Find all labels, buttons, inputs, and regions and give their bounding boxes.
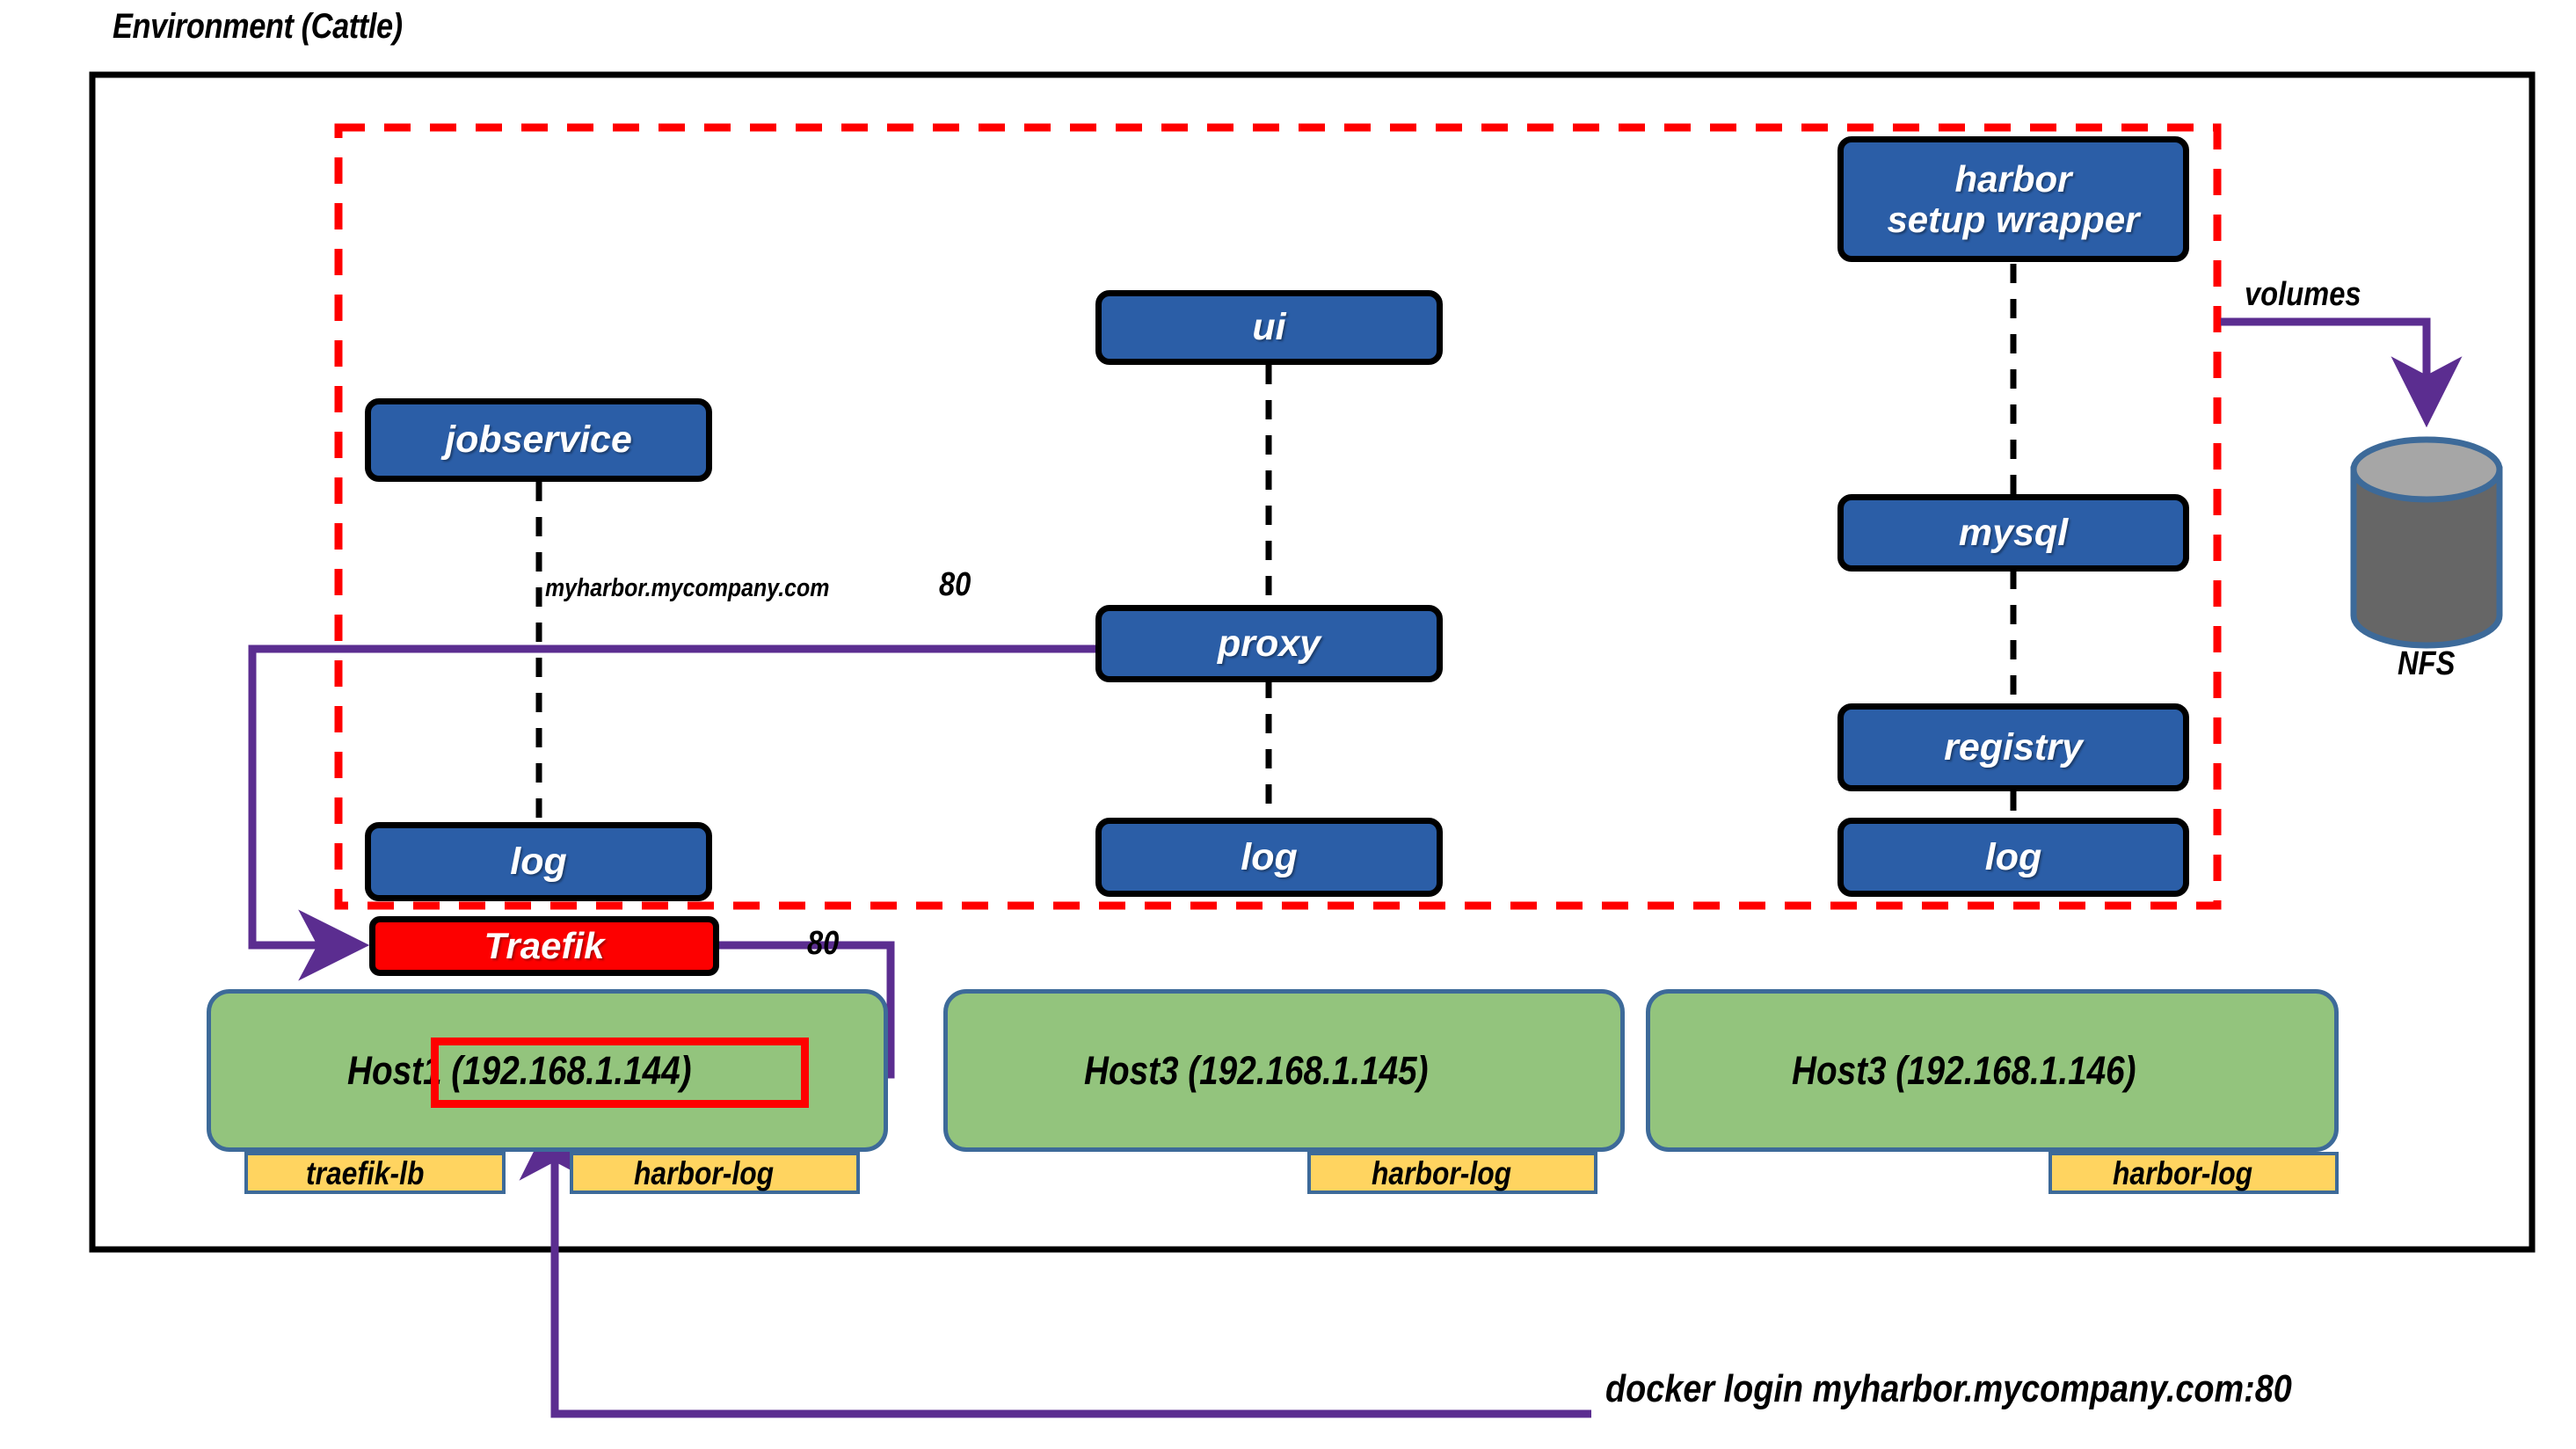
service-label-proxy: proxy — [1218, 623, 1321, 664]
service-label-registry-log: log — [1985, 837, 2041, 877]
page-title: Environment (Cattle) — [113, 9, 403, 44]
host1-chip-label-harbor-log: harbor-log — [634, 1157, 774, 1190]
service-label-registry: registry — [1944, 727, 2083, 768]
docker-login-command: docker login myharbor.mycompany.com:80 — [1605, 1370, 2292, 1409]
host-box-3[interactable]: Host3 (192.168.1.146) — [1646, 989, 2339, 1152]
traefik-port-label: 80 — [807, 927, 839, 960]
host2-chip-label-harbor-log: harbor-log — [1372, 1157, 1511, 1190]
proxy-port-label: 80 — [939, 568, 971, 601]
service-box-registry-log[interactable]: log — [1837, 818, 2189, 897]
volumes-label: volumes — [2245, 278, 2361, 311]
service-box-ui[interactable]: ui — [1095, 290, 1443, 365]
service-label-harbor-setup-wrapper: harborsetup wrapper — [1887, 159, 2139, 239]
host1-chip-traefik-lb[interactable]: traefik-lb — [244, 1152, 506, 1194]
service-label-jobservice: jobservice — [445, 419, 632, 460]
service-box-jobservice-log[interactable]: log — [365, 822, 712, 901]
host-label-3: Host3 (192.168.1.146) — [1792, 1051, 2136, 1090]
service-box-proxy[interactable]: proxy — [1095, 605, 1443, 682]
harbor-domain-label: myharbor.mycompany.com — [545, 576, 829, 601]
traefik-load-balancer-box[interactable]: Traefik — [369, 916, 719, 976]
host1-chip-harbor-log[interactable]: harbor-log — [570, 1152, 860, 1194]
traefik-label: Traefik — [484, 925, 605, 967]
volumes-arrow — [2221, 322, 2427, 413]
service-box-harbor-setup-wrapper[interactable]: harborsetup wrapper — [1837, 136, 2189, 262]
host3-chip-harbor-log[interactable]: harbor-log — [2048, 1152, 2339, 1194]
service-label-mysql: mysql — [1959, 513, 2068, 553]
nfs-cylinder — [2354, 440, 2500, 645]
host-label-2: Host3 (192.168.1.145) — [1084, 1051, 1429, 1090]
service-label-proxy-log: log — [1241, 837, 1297, 877]
service-box-jobservice[interactable]: jobservice — [365, 398, 712, 482]
service-box-registry[interactable]: registry — [1837, 703, 2189, 791]
host3-chip-label-harbor-log: harbor-log — [2113, 1157, 2252, 1190]
service-box-mysql[interactable]: mysql — [1837, 494, 2189, 572]
host1-chip-label-traefik-lb: traefik-lb — [306, 1157, 424, 1190]
host2-chip-harbor-log[interactable]: harbor-log — [1307, 1152, 1597, 1194]
host-box-2[interactable]: Host3 (192.168.1.145) — [943, 989, 1625, 1152]
diagram-canvas: Environment (Cattle) volumes NFS myharbo… — [0, 0, 2576, 1449]
service-box-proxy-log[interactable]: log — [1095, 818, 1443, 897]
connector-layer — [0, 0, 2576, 1449]
nfs-label: NFS — [2398, 647, 2455, 681]
service-label-jobservice-log: log — [510, 841, 566, 882]
host1-ip-highlight — [431, 1038, 809, 1108]
service-label-ui: ui — [1252, 307, 1285, 347]
